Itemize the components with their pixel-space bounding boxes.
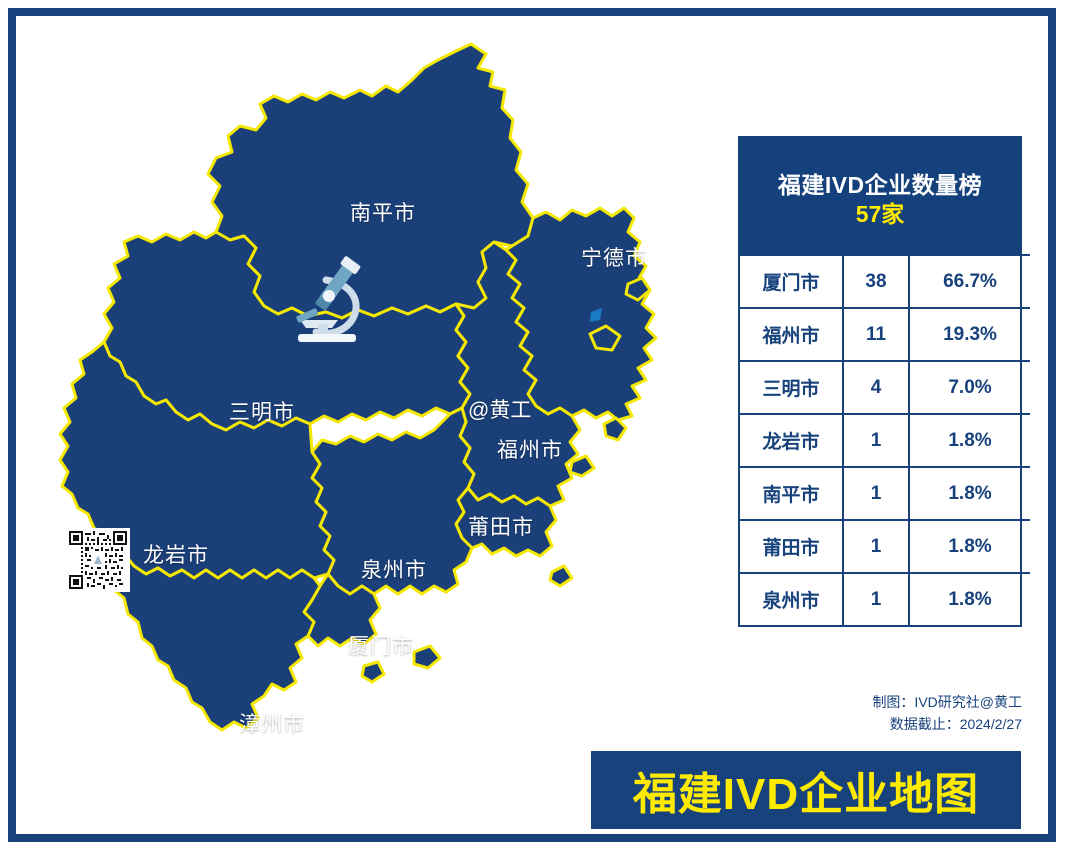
row-city: 泉州市 xyxy=(740,573,843,625)
row-percent: 1.8% xyxy=(909,573,1030,625)
credits-datecut: 数据截止：2024/2/27 xyxy=(716,714,1022,736)
ranking-table: 福建IVD企业数量榜 57家 厦门市3866.7%福州市1119.3%三明市47… xyxy=(738,136,1022,627)
island-e xyxy=(414,646,440,668)
row-count: 4 xyxy=(843,361,909,414)
poster-frame: 南平市 宁德市 三明市 福州市 莆田市 龙岩市 泉州市 厦门市 漳州市 @黄工 … xyxy=(8,8,1056,842)
ranking-table-body: 厦门市3866.7%福州市1119.3%三明市47.0%龙岩市11.8%南平市1… xyxy=(740,254,1030,625)
fujian-map-svg xyxy=(16,16,736,846)
table-row: 三明市47.0% xyxy=(740,361,1030,414)
island-a xyxy=(604,418,626,440)
row-count: 1 xyxy=(843,520,909,573)
row-percent: 1.8% xyxy=(909,467,1030,520)
qr-code-svg xyxy=(69,531,127,589)
row-city: 福州市 xyxy=(740,308,843,361)
row-count: 1 xyxy=(843,467,909,520)
table-row: 莆田市11.8% xyxy=(740,520,1030,573)
row-percent: 19.3% xyxy=(909,308,1030,361)
island-g xyxy=(550,566,572,586)
qr-code[interactable] xyxy=(66,528,130,592)
row-percent: 66.7% xyxy=(909,255,1030,308)
table-row: 厦门市3866.7% xyxy=(740,255,1030,308)
row-city: 厦门市 xyxy=(740,255,843,308)
row-percent: 1.8% xyxy=(909,414,1030,467)
table-row: 泉州市11.8% xyxy=(740,573,1030,625)
table-row: 龙岩市11.8% xyxy=(740,414,1030,467)
row-count: 11 xyxy=(843,308,909,361)
row-count: 1 xyxy=(843,414,909,467)
microscope-icon xyxy=(282,250,374,346)
row-percent: 7.0% xyxy=(909,361,1030,414)
region-zhangzhou xyxy=(114,554,320,730)
credits: 制图：IVD研究社@黄工 数据截止：2024/2/27 xyxy=(716,692,1022,735)
ranking-table-header: 福建IVD企业数量榜 57家 xyxy=(740,138,1020,254)
island-f xyxy=(362,662,384,682)
table-row: 南平市11.8% xyxy=(740,467,1030,520)
title-banner: 福建IVD企业地图 xyxy=(591,751,1021,829)
author-handle: @黄工 xyxy=(468,394,531,424)
table-row: 福州市1119.3% xyxy=(740,308,1030,361)
fujian-map: 南平市 宁德市 三明市 福州市 莆田市 龙岩市 泉州市 厦门市 漳州市 @黄工 xyxy=(16,16,736,846)
ranking-table-subtitle: 57家 xyxy=(746,201,1014,228)
row-count: 1 xyxy=(843,573,909,625)
row-city: 南平市 xyxy=(740,467,843,520)
row-city: 莆田市 xyxy=(740,520,843,573)
credits-author: 制图：IVD研究社@黄工 xyxy=(716,692,1022,714)
row-city: 三明市 xyxy=(740,361,843,414)
region-quanzhou xyxy=(312,408,474,594)
row-city: 龙岩市 xyxy=(740,414,843,467)
ranking-table-title: 福建IVD企业数量榜 xyxy=(746,172,1014,199)
title-banner-text: 福建IVD企业地图 xyxy=(633,758,979,822)
row-count: 38 xyxy=(843,255,909,308)
row-percent: 1.8% xyxy=(909,520,1030,573)
